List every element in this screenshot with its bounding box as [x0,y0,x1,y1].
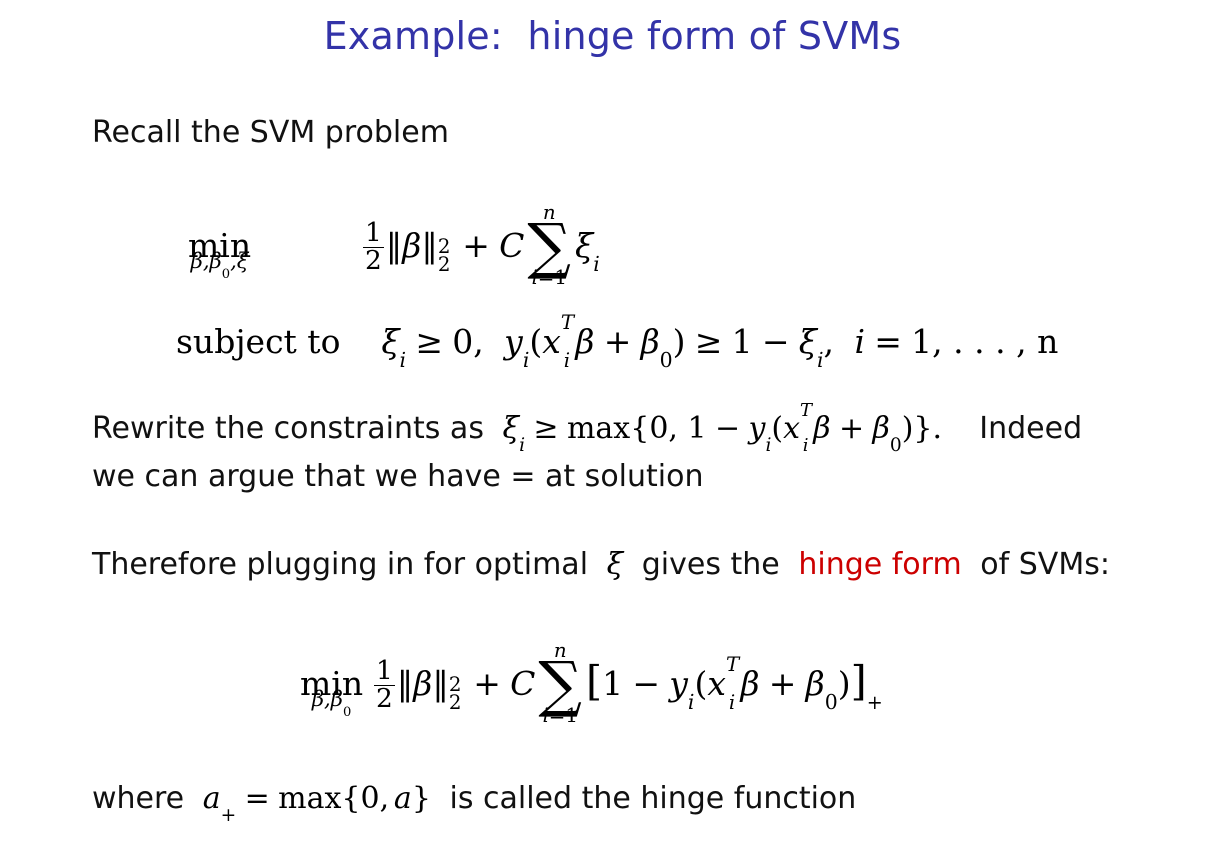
eq1-sum-lower-limit: i=1 [527,268,571,288]
page-title: Example: hinge form of SVMs [0,14,1225,58]
eq1-norm-variable: β [402,226,421,265]
eq1-one-half-fraction: 1 2 [363,220,384,275]
eq1-subject-to-label: subject to [176,322,340,361]
eq1-norm-close: ‖ [421,226,438,265]
eq2-min-subscript: β,β0 [312,688,351,709]
therefore-post-text: of SVMs: [980,547,1110,582]
closing-pre-text: where [92,781,184,816]
eq2-sum-lower-limit: i=1 [538,706,582,726]
closing-inline-math: a+=max{0,a} [203,781,431,816]
eq2-plus-subscript: + [867,691,883,714]
eq1-constraint-y: y [504,322,523,361]
eq1-constraint-xi: ξ [381,322,399,361]
therefore-xi-symbol: ξ [607,547,624,582]
eq1-min-subscript: β,β0,ξ [191,250,249,271]
eq2-one-half-fraction: 1 2 [374,658,395,713]
hinge-form-emphasis: hinge form [798,547,961,582]
eq1-norm-open: ‖ [386,226,403,265]
eq1-constant-c: C [499,226,524,265]
eq2-x-transpose: xTi [707,664,735,703]
rewrite-x-transpose: xTi [783,414,808,444]
eq1-x-transpose: xTi [542,322,570,361]
eq2-bracket-close: ] [851,657,867,705]
eq1-range-list: 1, . . . , n [911,322,1058,361]
intro-line: Recall the SVM problem [92,118,449,148]
eq1-summand-index: i [593,252,600,276]
eq2-min-operator: min β,β0 [300,664,363,703]
rewrite-inline-math: ξi≥max{0, 1−yi(xTiβ+β0)}. [503,411,943,446]
slide-canvas: { "slide": { "title": "Example: hinge fo… [0,0,1225,850]
eq1-summand-xi: ξ [575,226,593,265]
therefore-paragraph: Therefore plugging in for optimalξgives … [92,550,1110,580]
rewrite-paragraph-line-2: we can argue that we have = at solution [92,462,703,492]
eq1-min-operator: min β,β0,ξ [188,226,251,265]
rewrite-pre-text: Rewrite the constraints as [92,411,484,446]
therefore-mid-text: gives the [642,547,780,582]
closing-paragraph: wherea+=max{0,a}is called the hinge func… [92,784,856,814]
eq2-summation: n∑i=1 [538,658,582,712]
eq1-plus: + [462,226,490,265]
eq1-summation: n∑i=1 [527,220,571,274]
therefore-pre-text: Therefore plugging in for optimal [92,547,588,582]
eq2-objective-expression: 1 2 ‖β‖22+Cn∑i=1[1−yi(xTiβ+β0)]+ [372,657,883,715]
rewrite-post-text: Indeed [979,411,1082,446]
eq2-bracket-open: [ [586,657,602,705]
rewrite-paragraph-line-1: Rewrite the constraints asξi≥max{0, 1−yi… [92,414,1082,444]
equation-1-constraint-row: subject toξi≥0,yi(xTiβ+β0)≥1−ξi,i=1, . .… [176,322,1058,361]
eq1-objective-expression: 1 2 ‖β‖22+Cn∑i=1ξi [361,220,600,277]
closing-post-text: is called the hinge function [450,781,857,816]
